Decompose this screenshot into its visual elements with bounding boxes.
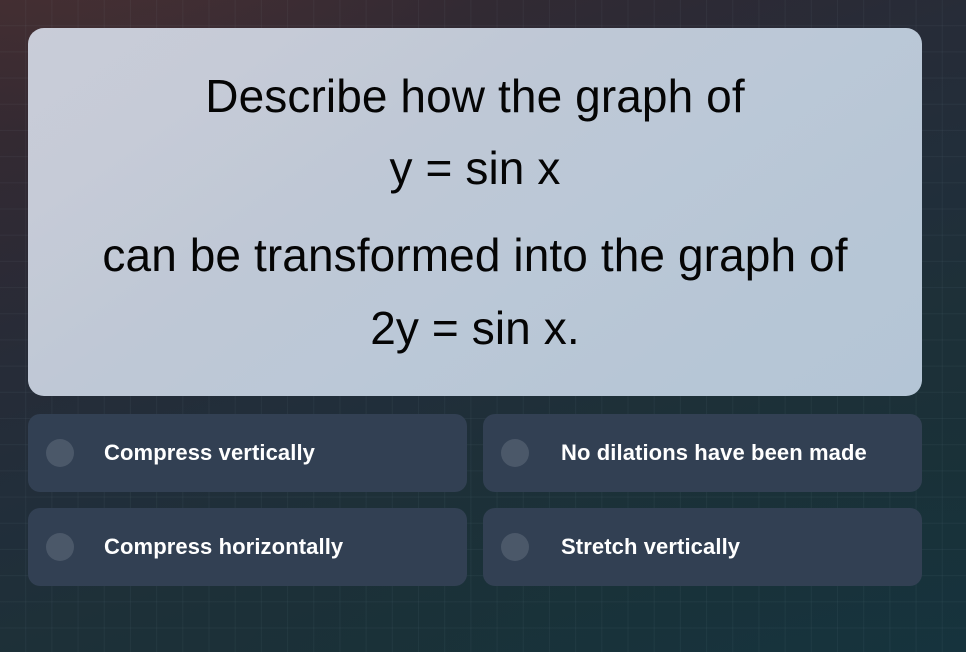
option-compress-vertically[interactable]: Compress vertically: [28, 414, 467, 492]
option-label: No dilations have been made: [561, 440, 867, 466]
option-label: Stretch vertically: [561, 534, 740, 560]
question-line-1: Describe how the graph of: [205, 60, 744, 133]
quiz-content: Describe how the graph of y = sin x can …: [0, 0, 966, 586]
radio-unchecked-icon[interactable]: [46, 439, 74, 467]
question-line-4: 2y = sin x.: [370, 292, 579, 365]
radio-unchecked-icon[interactable]: [501, 439, 529, 467]
radio-unchecked-icon[interactable]: [46, 533, 74, 561]
question-card: Describe how the graph of y = sin x can …: [28, 28, 922, 396]
answer-options: Compress vertically No dilations have be…: [28, 414, 938, 586]
option-label: Compress horizontally: [104, 534, 343, 560]
question-line-3: can be transformed into the graph of: [102, 219, 847, 292]
radio-unchecked-icon[interactable]: [501, 533, 529, 561]
option-stretch-vertically[interactable]: Stretch vertically: [483, 508, 922, 586]
quiz-screen: Describe how the graph of y = sin x can …: [0, 0, 966, 652]
option-no-dilations[interactable]: No dilations have been made: [483, 414, 922, 492]
option-compress-horizontally[interactable]: Compress horizontally: [28, 508, 467, 586]
option-label: Compress vertically: [104, 440, 315, 466]
question-line-2: y = sin x: [390, 132, 561, 205]
